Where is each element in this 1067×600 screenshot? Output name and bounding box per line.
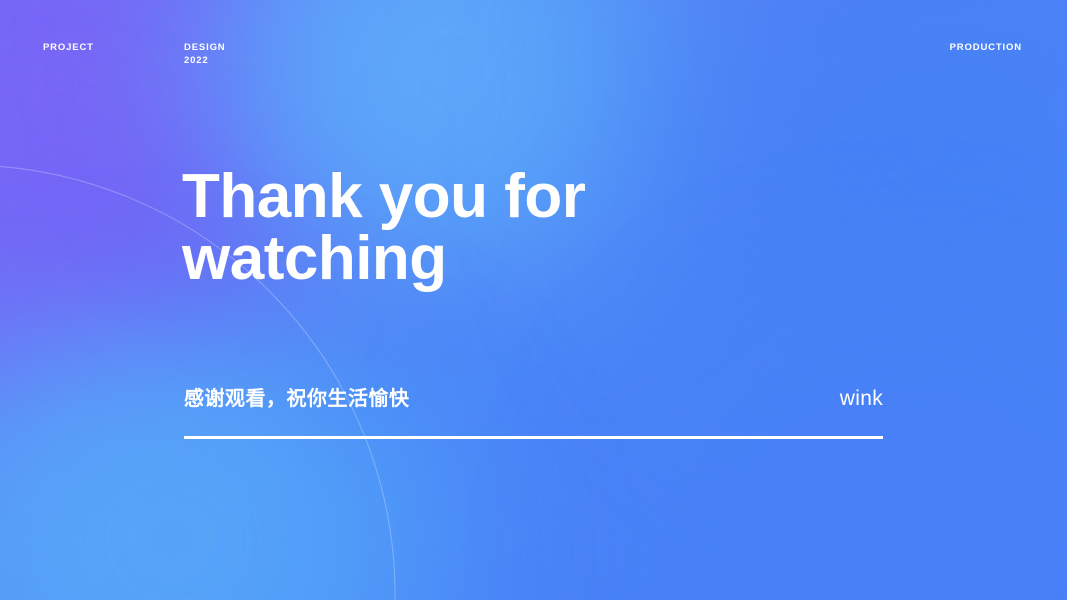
header-label-production: PRODUCTION	[950, 41, 1022, 54]
slide-heading: Thank you for watching	[182, 166, 942, 290]
slide-header: PROJECT DESIGN 2022 PRODUCTION	[0, 0, 1067, 90]
header-label-project: PROJECT	[43, 41, 94, 54]
header-label-design: DESIGN	[184, 41, 226, 54]
background-sheen	[0, 0, 1067, 600]
heading-line-2: watching	[182, 228, 942, 290]
slide-footer: 感谢观看，祝你生活愉快 wink	[184, 382, 883, 439]
header-label-design-year: 2022	[184, 54, 209, 67]
footer-message-chinese: 感谢观看，祝你生活愉快	[184, 382, 410, 411]
footer-divider	[184, 436, 883, 439]
footer-row: 感谢观看，祝你生活愉快 wink	[184, 382, 883, 416]
footer-brand-name: wink	[840, 387, 883, 411]
presentation-slide: PROJECT DESIGN 2022 PRODUCTION Thank you…	[0, 0, 1067, 600]
heading-line-1: Thank you for	[182, 166, 942, 228]
